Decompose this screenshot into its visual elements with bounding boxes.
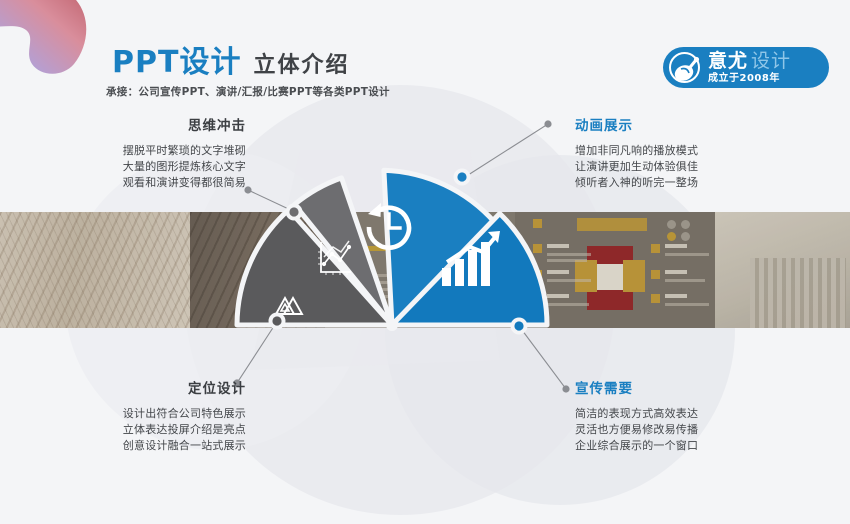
callout-line: 简洁的表现方式高效表达 xyxy=(575,406,745,422)
callout-heading: 定位设计 xyxy=(84,383,246,397)
callout-heading: 动画展示 xyxy=(575,120,745,134)
slide-thumbnail-strip xyxy=(0,212,850,328)
callout-line: 设计出符合公司特色展示 xyxy=(84,406,246,422)
logo-name-light: 设计 xyxy=(751,52,791,71)
callout-line: 增加非同凡响的播放模式 xyxy=(575,143,745,159)
callout-line: 企业综合展示的一个窗口 xyxy=(575,438,745,454)
callout-line: 大量的图形提炼核心文字 xyxy=(86,159,246,175)
callout-bottom-left: 定位设计 设计出符合公司特色展示 立体表达投屏介绍是亮点 创意设计融合一站式展示 xyxy=(84,383,246,454)
callout-heading: 宣传需要 xyxy=(575,383,745,397)
callout-bottom-right: 宣传需要 简洁的表现方式高效表达 灵活也方便易修改易传播 企业综合展示的一个窗口 xyxy=(575,383,745,454)
callout-line: 摆脱平时繁琐的文字堆砌 xyxy=(86,143,246,159)
callout-line: 立体表达投屏介绍是亮点 xyxy=(84,422,246,438)
band-overlay xyxy=(0,212,850,328)
callout-line: 让演讲更加生动体验俱佳 xyxy=(575,159,745,175)
callout-line: 观看和演讲变得都很简易 xyxy=(86,175,246,191)
logo-name-bold: 意尤 xyxy=(708,52,748,71)
callout-top-right: 动画展示 增加非同凡响的播放模式 让演讲更加生动体验俱佳 倾听者入神的听完一整场 xyxy=(575,120,745,191)
title-description: 承接：公司宣传PPT、演讲/汇报/比赛PPT等各类PPT设计 xyxy=(106,84,390,99)
callout-heading: 思维冲击 xyxy=(86,120,246,134)
brand-logo[interactable]: 意尤 设计 成立于2008年 xyxy=(663,47,829,88)
callout-line: 创意设计融合一站式展示 xyxy=(84,438,246,454)
title-sub: 立体介绍 xyxy=(253,55,349,77)
callout-line: 灵活也方便易修改易传播 xyxy=(575,422,745,438)
page-title: PPT设计 立体介绍 xyxy=(112,48,349,78)
mouse-pen-circle-icon xyxy=(669,52,700,83)
slide-header: PPT设计 立体介绍 承接：公司宣传PPT、演讲/汇报/比赛PPT等各类PPT设… xyxy=(0,0,850,110)
slide-canvas: PPT设计 立体介绍 承接：公司宣传PPT、演讲/汇报/比赛PPT等各类PPT设… xyxy=(0,0,850,524)
callout-line: 倾听者入神的听完一整场 xyxy=(575,175,745,191)
title-main: PPT设计 xyxy=(112,48,241,78)
logo-tagline: 成立于2008年 xyxy=(708,74,791,84)
callout-top-left: 思维冲击 摆脱平时繁琐的文字堆砌 大量的图形提炼核心文字 观看和演讲变得都很简易 xyxy=(86,120,246,191)
